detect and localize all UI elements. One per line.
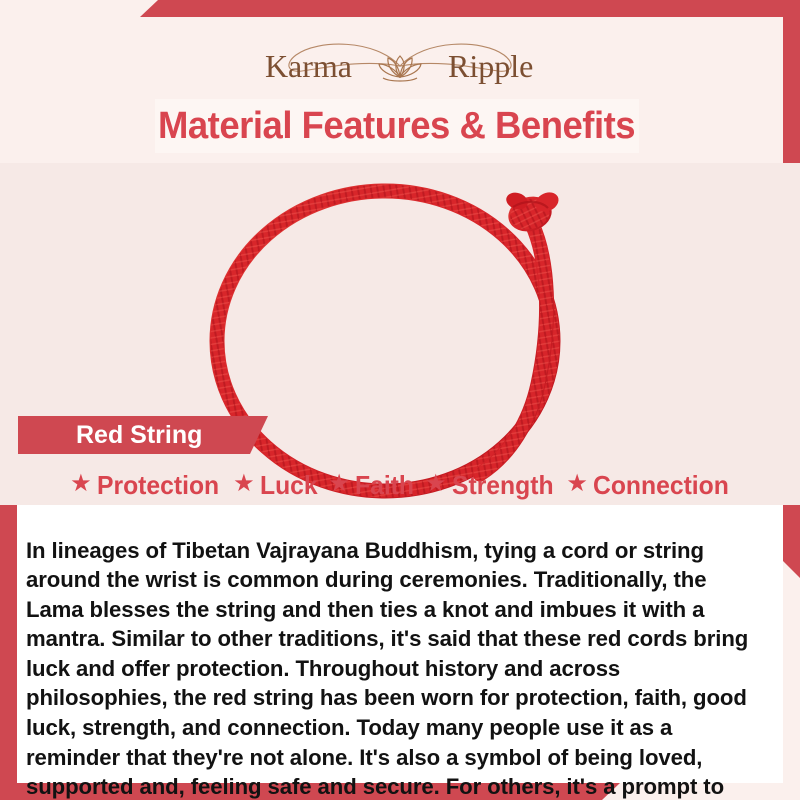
description-panel: In lineages of Tibetan Vajrayana Buddhis… [17, 505, 783, 783]
star-icon: ★ [70, 472, 92, 496]
star-icon: ★ [233, 472, 255, 496]
material-name: Red String [76, 421, 202, 450]
feature-item-strength: ★ Strength [419, 470, 558, 501]
page-title-band: Material Features & Benefits [155, 99, 639, 153]
feature-item-luck: ★ Luck [227, 470, 320, 501]
logo-svg: Karma Ripple [240, 33, 560, 99]
cord-knot [504, 189, 562, 237]
material-ribbon: Red String [18, 416, 268, 454]
feature-item-protection: ★ Protection [64, 470, 225, 501]
lotus-icon [379, 56, 421, 81]
star-icon: ★ [566, 472, 588, 496]
description-text: In lineages of Tibetan Vajrayana Buddhis… [26, 536, 763, 800]
page-title: Material Features & Benefits [158, 105, 635, 148]
infographic-page: Karma Ripple Material Features & Benefit… [0, 0, 800, 800]
feature-list: ★ Protection ★ Luck ★ Faith ★ Strength ★… [17, 468, 783, 502]
feature-item-connection: ★ Connection [560, 470, 736, 501]
star-icon: ★ [328, 472, 350, 496]
star-icon: ★ [425, 472, 447, 496]
logo-word-karma: Karma [265, 48, 352, 84]
feature-label: Faith [355, 470, 414, 501]
feature-label: Connection [593, 470, 729, 501]
feature-label: Luck [260, 470, 318, 501]
feature-label: Protection [97, 470, 219, 501]
feature-item-faith: ★ Faith [322, 470, 417, 501]
decorative-bar-top-right [140, 0, 800, 17]
logo-word-ripple: Ripple [448, 48, 533, 84]
brand-logo: Karma Ripple [0, 33, 800, 99]
feature-label: Strength [452, 470, 554, 501]
